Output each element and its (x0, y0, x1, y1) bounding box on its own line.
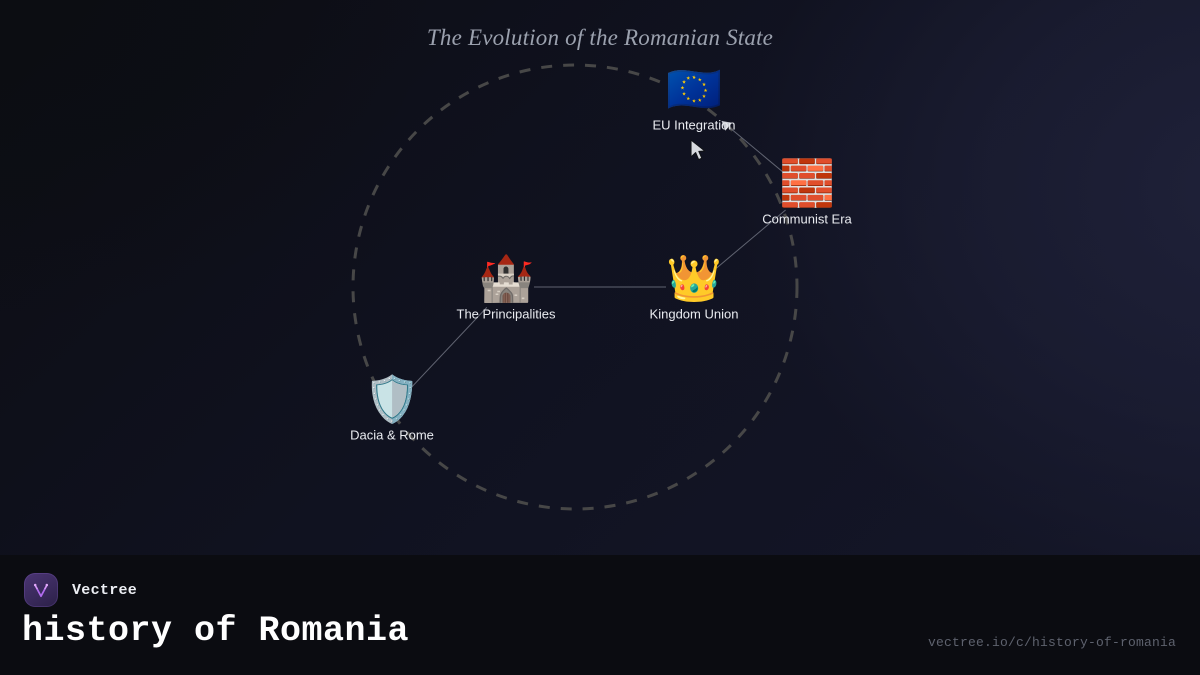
crown-icon: 👑 (666, 253, 722, 305)
graph-node-label: Communist Era (762, 212, 852, 227)
footer-bar: Vectree history of Romania vectree.io/c/… (0, 555, 1200, 675)
graph-canvas[interactable]: 🛡️Dacia & Rome🏰The Principalities👑Kingdo… (0, 0, 1200, 560)
content-title: history of Romania (22, 611, 409, 651)
shield-icon: 🛡️ (364, 374, 420, 426)
brand-row[interactable]: Vectree (24, 573, 137, 607)
graph-node-label: Dacia & Rome (350, 428, 434, 443)
graph-node-dacia[interactable]: 🛡️Dacia & Rome (297, 374, 487, 443)
brick-wall-icon: 🧱 (779, 158, 835, 210)
share-url: vectree.io/c/history-of-romania (928, 635, 1176, 650)
brand-name: Vectree (72, 582, 137, 599)
graph-node-kingdom[interactable]: 👑Kingdom Union (599, 253, 789, 322)
graph-node-communist[interactable]: 🧱Communist Era (712, 158, 902, 227)
graph-node-eu[interactable]: 🇪🇺EU Integration (599, 64, 789, 133)
graph-node-label: EU Integration (652, 118, 735, 133)
graph-node-principalities[interactable]: 🏰The Principalities (411, 253, 601, 322)
canvas-root: The Evolution of the Romanian State 🛡️Da… (0, 0, 1200, 675)
castle-icon: 🏰 (478, 253, 534, 305)
graph-node-label: The Principalities (457, 307, 556, 322)
eu-flag-icon: 🇪🇺 (666, 64, 722, 116)
graph-node-label: Kingdom Union (650, 307, 739, 322)
vectree-logo-icon (24, 573, 58, 607)
